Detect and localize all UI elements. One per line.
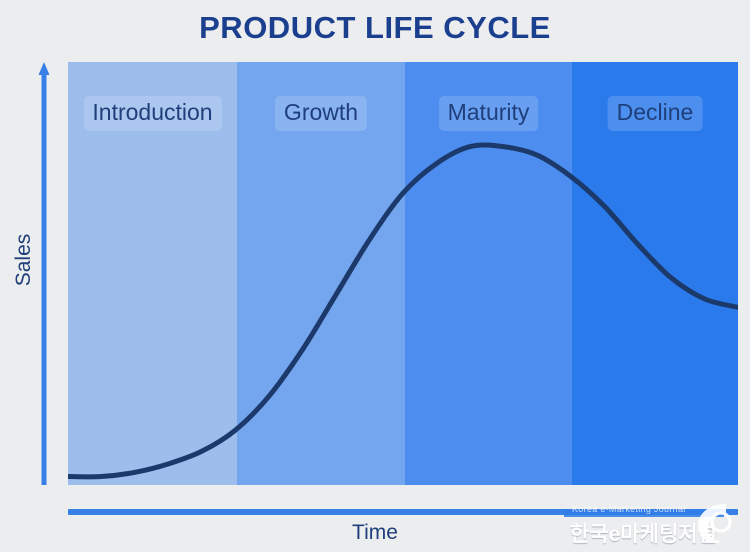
page-title: PRODUCT LIFE CYCLE xyxy=(0,10,750,46)
y-axis-arrow xyxy=(38,62,50,485)
spiral-leaf-logo-icon xyxy=(692,500,738,546)
sales-curve xyxy=(68,62,738,485)
chart-plot-area: Introduction Growth Maturity Decline xyxy=(68,62,738,485)
y-axis-label: Sales xyxy=(12,230,36,290)
watermark: Korea e-Marketing Journal 한국e마케팅저널 xyxy=(562,498,742,550)
watermark-english-text: Korea e-Marketing Journal xyxy=(572,504,686,514)
